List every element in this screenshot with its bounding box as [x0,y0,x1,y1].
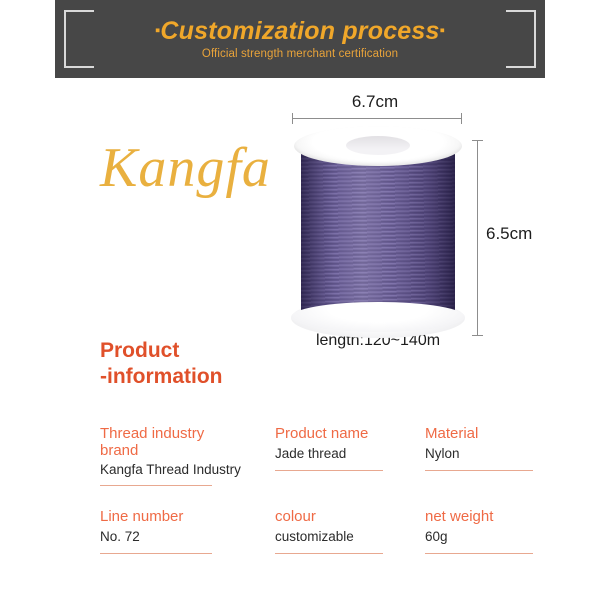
spec-label: Product name [275,425,413,442]
product-photo: 6.7cm 6.5cm length:120~140m [280,92,550,352]
heading-line-1: Product [100,338,222,364]
spec-underline [100,485,212,486]
width-dimension-label: 6.7cm [280,92,470,112]
brand-wordmark: Kangfa [100,140,271,196]
spec-cell-net-weight: net weight 60g [425,508,540,554]
height-dimension-label: 6.5cm [486,224,532,244]
header-banner: ▪Customization process▪ Official strengt… [55,0,545,78]
spec-row: Line number No. 72 colour customizable n… [100,508,540,554]
spec-cell-product-name: Product name Jade thread [275,425,425,486]
spec-cell-material: Material Nylon [425,425,540,486]
spec-value: Nylon [425,445,528,470]
spec-value: Kangfa Thread Industry [100,461,263,486]
height-dimension-line [477,140,478,336]
spec-cell-colour: colour customizable [275,508,425,554]
specification-grid: Thread industry brand Kangfa Thread Indu… [100,425,540,568]
spec-row: Thread industry brand Kangfa Thread Indu… [100,425,540,486]
spec-label: colour [275,508,413,525]
spool-bottom-flange-front [291,302,465,332]
thread-winding [301,145,455,317]
spool-center-hole [346,136,410,155]
spec-label: Line number [100,508,263,525]
heading-line-2: -information [100,364,222,390]
banner-text-group: ▪Customization process▪ Official strengt… [55,0,545,78]
spec-label: net weight [425,508,528,525]
bullet-right-icon: ▪ [440,22,445,39]
spec-value: No. 72 [100,528,263,553]
banner-title-row: ▪Customization process▪ [155,18,445,44]
spec-underline [275,470,383,471]
banner-title: Customization process [160,17,439,45]
spec-underline [425,470,533,471]
spec-value: customizable [275,528,413,553]
thread-spool [294,126,462,338]
spec-label: Material [425,425,528,442]
spec-cell-line-number: Line number No. 72 [100,508,275,554]
banner-subtitle: Official strength merchant certification [202,48,398,60]
spec-underline [100,553,212,554]
spec-underline [425,553,533,554]
spec-value: Jade thread [275,445,413,470]
spec-cell-thread-industry-brand: Thread industry brand Kangfa Thread Indu… [100,425,275,486]
spec-value: 60g [425,528,528,553]
spec-underline [275,553,383,554]
spec-label: Thread industry brand [100,425,263,460]
product-information-heading: Product -information [100,338,222,389]
width-dimension-line [292,118,462,119]
